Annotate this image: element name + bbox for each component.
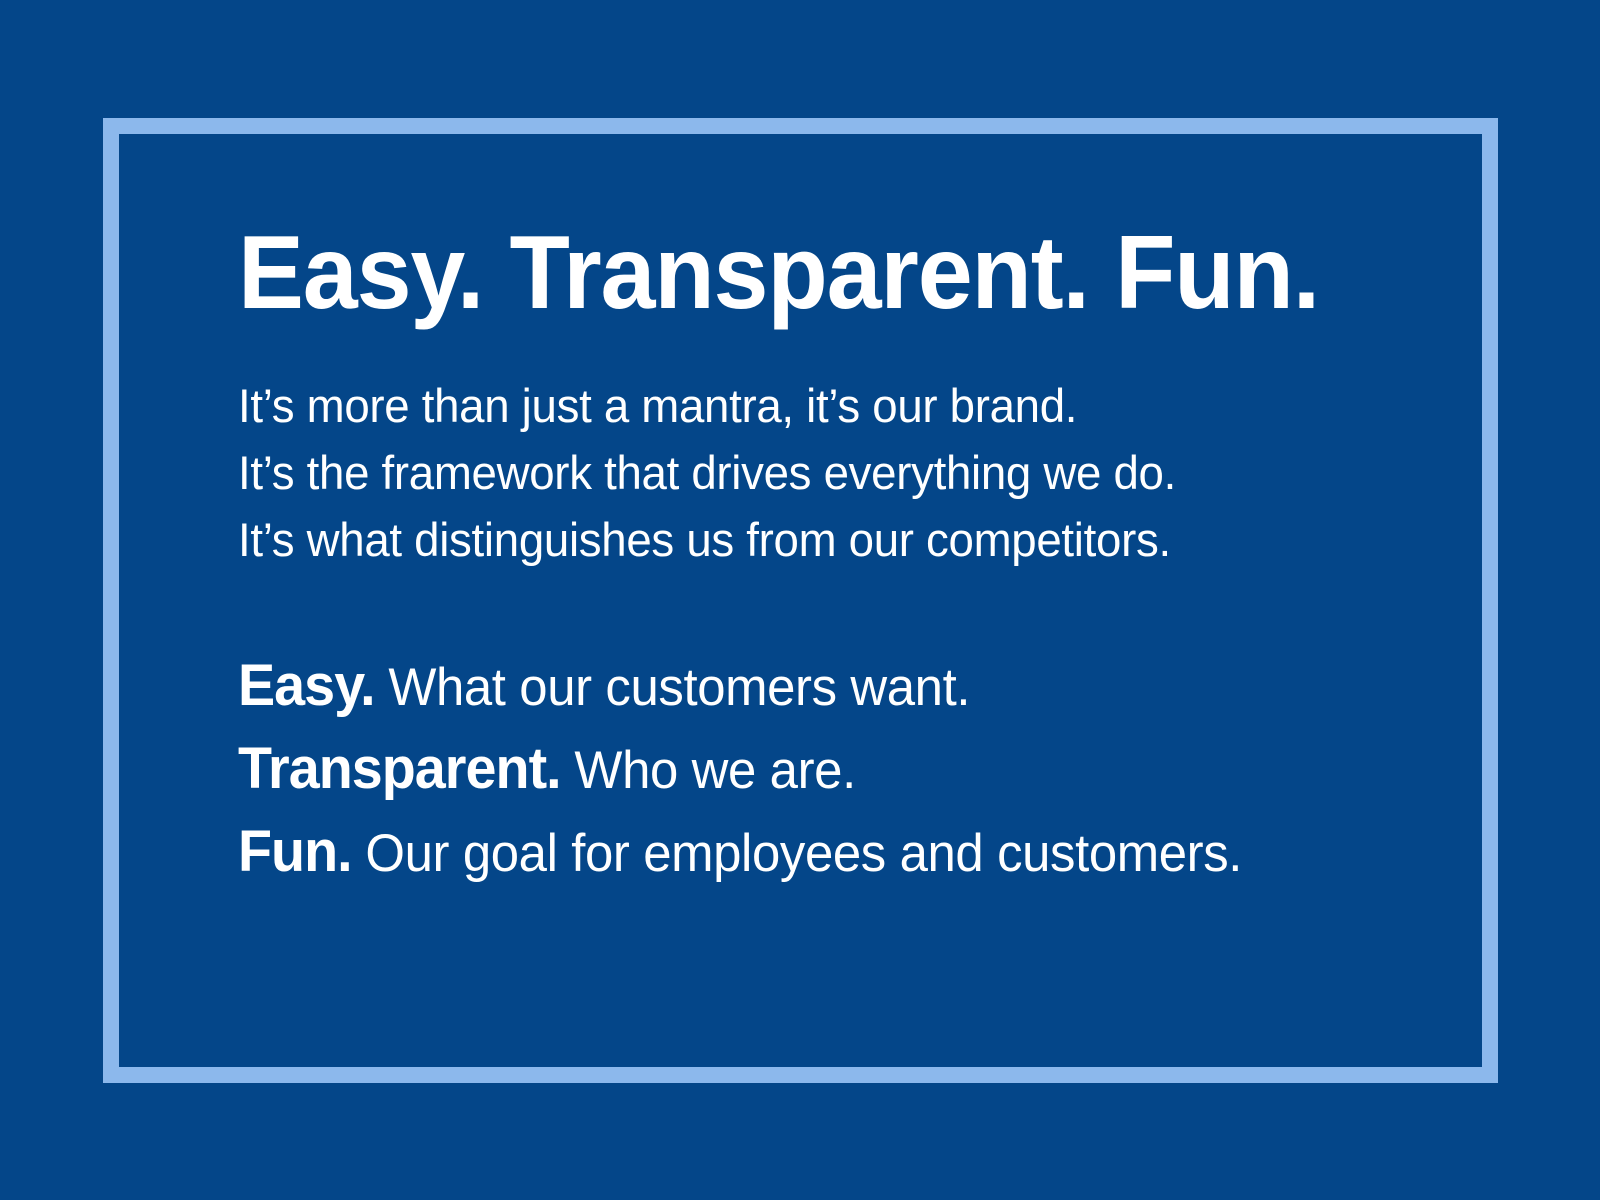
intro-line-3: It’s what distinguishes us from our comp…	[238, 506, 1383, 573]
intro-line-2: It’s the framework that drives everythin…	[238, 439, 1383, 506]
definition-description: Who we are.	[574, 741, 855, 800]
definition-item-transparent: Transparent. Who we are.	[238, 728, 1371, 811]
intro-line-1: It’s more than just a mantra, it’s our b…	[238, 372, 1383, 439]
definition-item-fun: Fun. Our goal for employees and customer…	[238, 811, 1371, 894]
definition-description: What our customers want.	[388, 658, 970, 717]
slide-content: Easy. Transparent. Fun. It’s more than j…	[238, 218, 1418, 894]
definition-term: Transparent.	[238, 736, 561, 801]
intro-paragraph: It’s more than just a mantra, it’s our b…	[238, 372, 1383, 573]
definition-item-easy: Easy. What our customers want.	[238, 645, 1371, 728]
slide-headline: Easy. Transparent. Fun.	[238, 218, 1359, 328]
definition-term: Easy.	[238, 653, 375, 718]
definition-list: Easy. What our customers want. Transpare…	[238, 645, 1371, 894]
definition-term: Fun.	[238, 819, 352, 884]
definition-description: Our goal for employees and customers.	[365, 824, 1242, 883]
brand-mantra-slide: Easy. Transparent. Fun. It’s more than j…	[0, 0, 1600, 1200]
